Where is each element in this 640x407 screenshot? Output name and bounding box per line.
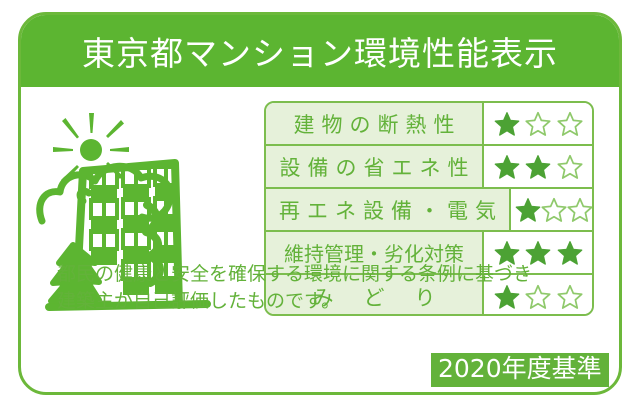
rating-label-energy-saving: 設備の省エネ性 xyxy=(266,146,484,187)
rating-label-insulation: 建物の断熱性 xyxy=(266,103,484,144)
star-empty-icon xyxy=(567,197,593,223)
standard-year-badge: 2020年度基準 xyxy=(431,353,609,387)
star-filled-icon xyxy=(525,154,551,180)
table-row: 再エネ設備・電気 xyxy=(266,189,592,232)
star-filled-icon xyxy=(494,111,520,137)
page-title: 東京都マンション環境性能表示 xyxy=(82,27,558,75)
footer-line-2: 建築主が自己評価したものです。 xyxy=(57,288,609,315)
environmental-performance-label-card: 東京都マンション環境性能表示 xyxy=(18,12,622,395)
star-empty-icon xyxy=(557,154,583,180)
footer-note: 都民の健康と安全を確保する環境に関する条例に基づき 建築主が自己評価したものです… xyxy=(57,261,609,315)
rating-stars-renewable-energy xyxy=(511,189,594,230)
rating-stars-insulation xyxy=(484,103,592,144)
table-row: 設備の省エネ性 xyxy=(266,146,592,189)
star-filled-icon xyxy=(494,154,520,180)
star-empty-icon xyxy=(525,111,551,137)
label-header: 東京都マンション環境性能表示 xyxy=(21,15,619,87)
star-empty-icon xyxy=(541,197,567,223)
rating-stars-energy-saving xyxy=(484,146,592,187)
rating-label-renewable-energy: 再エネ設備・電気 xyxy=(266,189,511,230)
label-page: 東京都マンション環境性能表示 xyxy=(0,0,640,407)
footer-line-1: 都民の健康と安全を確保する環境に関する条例に基づき xyxy=(57,261,609,288)
table-row: 建物の断熱性 xyxy=(266,103,592,146)
star-empty-icon xyxy=(557,111,583,137)
star-filled-icon xyxy=(515,197,541,223)
